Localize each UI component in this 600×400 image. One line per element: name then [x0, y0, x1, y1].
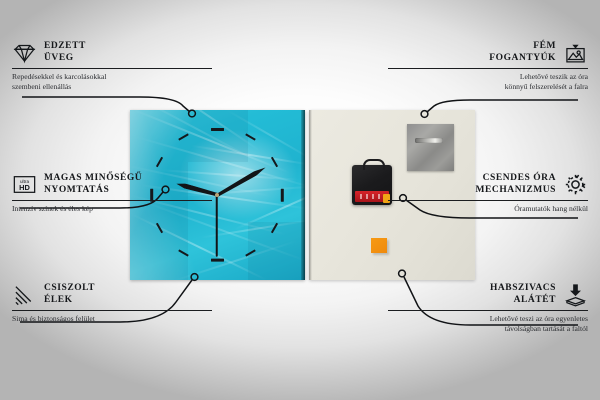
picture-frame-hanger-icon	[563, 40, 588, 65]
divider	[12, 310, 212, 311]
hanger-slot	[415, 138, 443, 143]
feature-desc-line1: Óramutatók hang nélkül	[388, 204, 588, 214]
mechanism-hook	[363, 159, 385, 170]
divider	[388, 200, 588, 201]
feature-title-line2: FOGANTYÚK	[489, 53, 556, 65]
feature-title-line2: NYOMTATÁS	[44, 185, 142, 197]
feature-title-line1: MAGAS MINŐSÉGŰ	[44, 173, 142, 185]
feature-title-line2: ÜVEG	[44, 53, 86, 65]
ultra-hd-icon: ultra HD	[12, 172, 37, 197]
feature-high-quality-print: ultra HD MAGAS MINŐSÉGŰ NYOMTATÁS Intenz…	[12, 172, 212, 214]
feature-title-line1: CSENDES ÓRA	[476, 173, 556, 185]
feature-title-line1: CSISZOLT	[44, 283, 95, 295]
feature-title-line1: HABSZIVACS	[490, 283, 556, 295]
feature-desc-line1: Intenzív színek és éles kép	[12, 204, 212, 214]
feature-desc-line1: Sima és biztonságos felület	[12, 314, 212, 324]
feature-title-line2: MECHANIZMUS	[476, 185, 556, 197]
divider	[388, 68, 588, 69]
feature-title-line1: FÉM	[489, 41, 556, 53]
feature-metal-handles: FÉM FOGANTYÚK Lehetővé teszik az óra kön…	[388, 40, 588, 91]
clock-tick	[211, 128, 224, 131]
clock-center-cap	[215, 193, 219, 197]
clock-mechanism	[352, 165, 392, 205]
feature-title-line2: ALÁTÉT	[490, 295, 556, 307]
clock-tick	[281, 188, 284, 201]
feature-desc-line1: Repedésekkel és karcolásokkal	[12, 72, 212, 82]
divider	[388, 310, 588, 311]
feature-foam-pad: HABSZIVACS ALÁTÉT Lehetővé teszi az óra …	[388, 282, 588, 333]
diamond-icon	[12, 40, 37, 65]
feature-tempered-glass: EDZETT ÜVEG Repedésekkel és karcolásokka…	[12, 40, 212, 91]
feature-title-line1: EDZETT	[44, 41, 86, 53]
foam-spacer-pad	[371, 238, 387, 253]
clock-second-hand	[216, 195, 218, 257]
clock-tick	[211, 259, 224, 262]
gear-icon	[563, 172, 588, 197]
feature-title-line2: ÉLEK	[44, 295, 95, 307]
press-pad-arrow-icon	[563, 282, 588, 307]
polished-edges-icon	[12, 282, 37, 307]
feature-silent-clock-mechanism: CSENDES ÓRA MECHANIZMUS Óramutatók hang …	[388, 172, 588, 214]
feature-desc-line2: szembeni ellenállás	[12, 82, 212, 92]
divider	[12, 200, 212, 201]
feature-desc-line2: távolságban tartását a faltól	[388, 324, 588, 334]
svg-text:HD: HD	[19, 183, 30, 192]
feature-desc-line1: Lehetővé teszik az óra	[388, 72, 588, 82]
feature-polished-edges: CSISZOLT ÉLEK Sima és biztonságos felüle…	[12, 282, 212, 324]
divider	[12, 68, 212, 69]
feature-desc-line1: Lehetővé teszi az óra egyenletes	[388, 314, 588, 324]
infographic-canvas: EDZETT ÜVEG Repedésekkel és karcolásokka…	[0, 0, 600, 400]
metal-hanger-plate	[407, 124, 454, 171]
feature-desc-line2: könnyű felszerelését a falra	[388, 82, 588, 92]
